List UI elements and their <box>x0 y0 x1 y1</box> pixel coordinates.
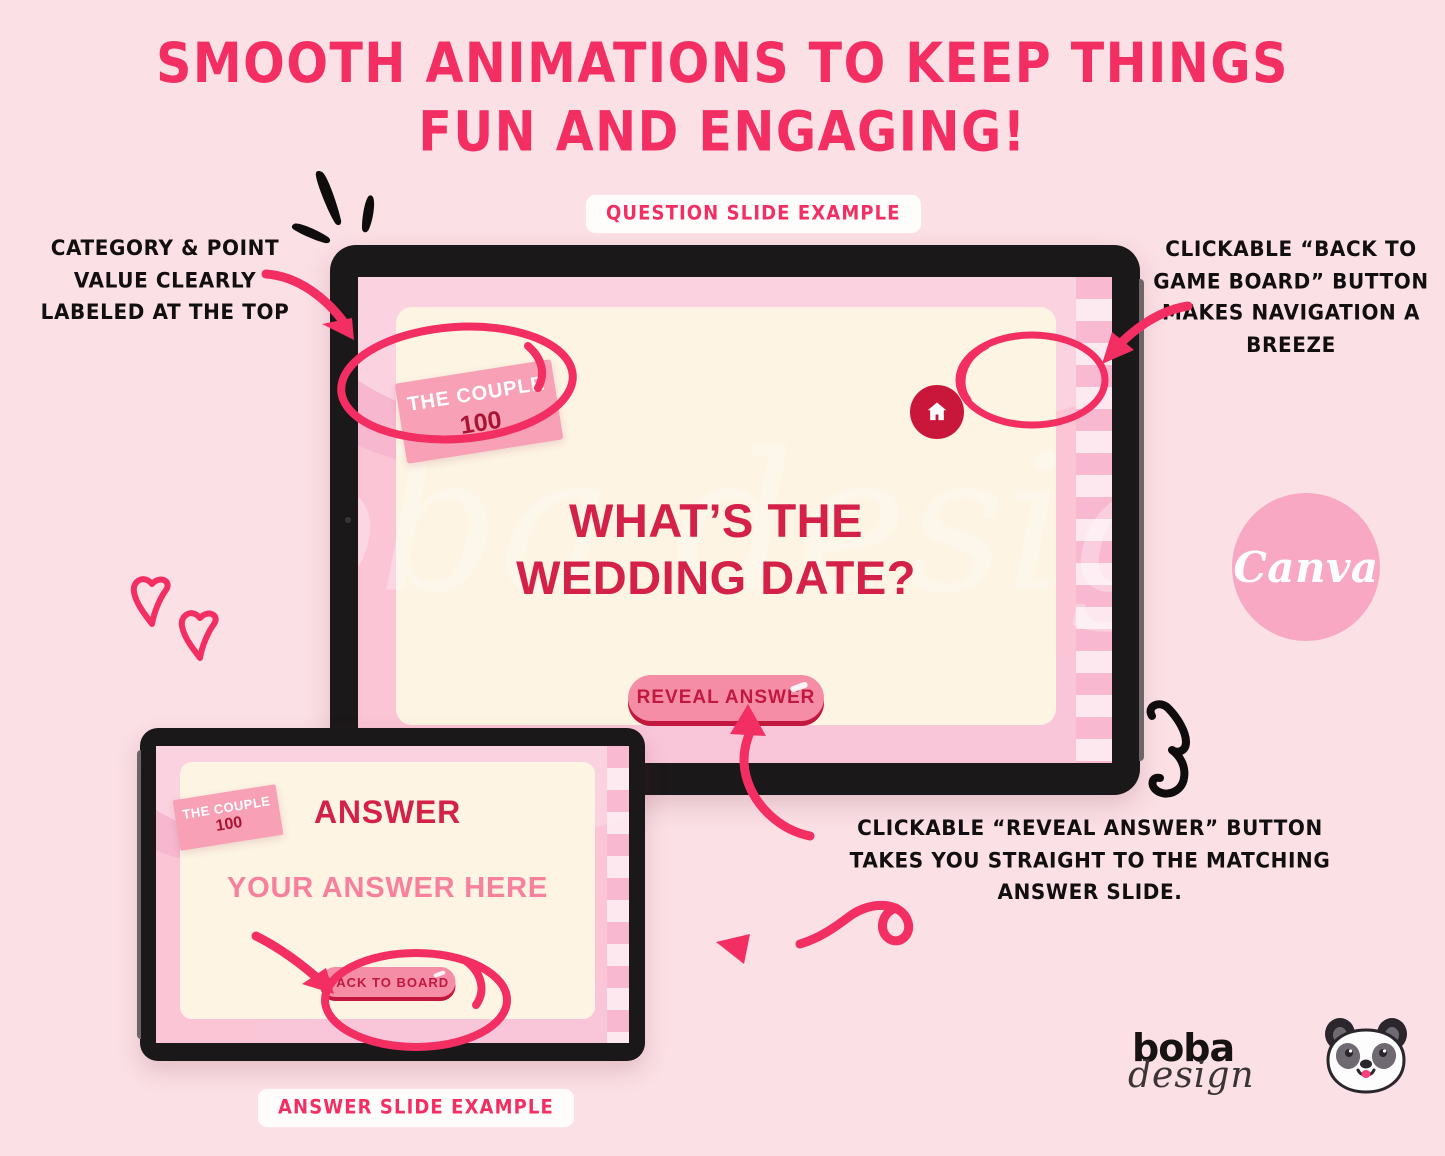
annotation-home-button: CLICKABLE “BACK TO GAME BOARD” BUTTON MA… <box>1141 233 1441 361</box>
tablet-answer-slide: ANSWER YOUR ANSWER HERE BACK TO BOARD TH… <box>140 728 645 1061</box>
tablet-camera-icon <box>345 517 351 523</box>
reveal-answer-label: REVEAL ANSWER <box>637 687 816 709</box>
page-title-line-2: FUN AND ENGAGING! <box>0 99 1445 167</box>
back-to-board-button[interactable]: BACK TO BOARD <box>320 967 455 997</box>
answer-slide: ANSWER YOUR ANSWER HERE BACK TO BOARD TH… <box>156 746 629 1043</box>
brand-name-bottom: design <box>1128 1055 1255 1096</box>
annotation-category-label: CATEGORY & POINT VALUE CLEARLY LABELED A… <box>30 232 300 328</box>
panda-icon <box>1318 1012 1414 1104</box>
canva-badge: Canva <box>1232 493 1380 641</box>
heart-doodle-icon <box>124 568 249 668</box>
back-to-board-label: BACK TO BOARD <box>326 975 449 990</box>
reveal-answer-button[interactable]: REVEAL ANSWER <box>628 675 824 721</box>
arrow-doodle-icon <box>700 900 920 1020</box>
slide-stripe-band <box>1076 277 1112 763</box>
squiggle-doodle-icon <box>1130 698 1246 824</box>
page-title: SMOOTH ANIMATIONS TO KEEP THINGS FUN AND… <box>0 31 1445 167</box>
answer-body-text: YOUR ANSWER HERE <box>180 872 595 905</box>
annotation-reveal-button: CLICKABLE “REVEAL ANSWER” BUTTON TAKES Y… <box>820 812 1360 908</box>
back-to-game-board-button[interactable] <box>910 385 964 439</box>
tablet-question-slide: boba design WHAT’S THE WEDDING DATE? REV… <box>330 245 1140 795</box>
poster-canvas: SMOOTH ANIMATIONS TO KEEP THINGS FUN AND… <box>0 0 1445 1156</box>
slide-stripe-band <box>607 746 629 1043</box>
question-text: WHAT’S THE WEDDING DATE? <box>486 492 946 607</box>
question-slide: boba design WHAT’S THE WEDDING DATE? REV… <box>358 277 1112 763</box>
page-title-line-1: SMOOTH ANIMATIONS TO KEEP THINGS <box>0 31 1445 99</box>
canva-label: Canva <box>1233 543 1378 592</box>
badge-question-slide-example: QUESTION SLIDE EXAMPLE <box>586 195 921 233</box>
home-icon <box>924 399 950 425</box>
brand-logo: boba design <box>1128 1008 1428 1108</box>
badge-answer-slide-example: ANSWER SLIDE EXAMPLE <box>258 1089 574 1127</box>
